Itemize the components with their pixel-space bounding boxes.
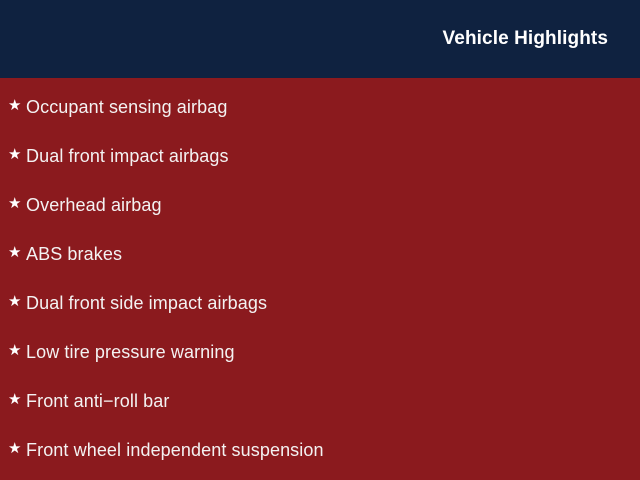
list-item: ★ Dual front impact airbags: [0, 131, 640, 180]
star-bullet-icon: ★: [8, 245, 26, 260]
star-bullet-icon: ★: [8, 98, 26, 113]
list-item-label: Overhead airbag: [26, 196, 162, 214]
list-item-label: Occupant sensing airbag: [26, 98, 227, 116]
list-item: ★ Front wheel independent suspension: [0, 425, 640, 474]
vehicle-highlights-screen: Vehicle Highlights ★ Occupant sensing ai…: [0, 0, 640, 480]
list-item: ★ ABS brakes: [0, 229, 640, 278]
star-bullet-icon: ★: [8, 294, 26, 309]
list-item-label: Low tire pressure warning: [26, 343, 235, 361]
star-bullet-icon: ★: [8, 196, 26, 211]
highlights-panel: ★ Occupant sensing airbag ★ Dual front i…: [0, 78, 640, 480]
list-item-label: Dual front side impact airbags: [26, 294, 267, 312]
star-bullet-icon: ★: [8, 441, 26, 456]
star-bullet-icon: ★: [8, 147, 26, 162]
list-item: ★ Low tire pressure warning: [0, 327, 640, 376]
page-title: Vehicle Highlights: [443, 28, 608, 50]
list-item-label: ABS brakes: [26, 245, 122, 263]
list-item: ★ Front anti−roll bar: [0, 376, 640, 425]
header-bar: Vehicle Highlights: [0, 0, 640, 78]
star-bullet-icon: ★: [8, 392, 26, 407]
highlights-list: ★ Occupant sensing airbag ★ Dual front i…: [0, 78, 640, 474]
list-item-label: Front wheel independent suspension: [26, 441, 324, 459]
list-item-label: Dual front impact airbags: [26, 147, 229, 165]
list-item: ★ Occupant sensing airbag: [0, 82, 640, 131]
list-item-label: Front anti−roll bar: [26, 392, 169, 410]
list-item: ★ Overhead airbag: [0, 180, 640, 229]
star-bullet-icon: ★: [8, 343, 26, 358]
list-item: ★ Dual front side impact airbags: [0, 278, 640, 327]
